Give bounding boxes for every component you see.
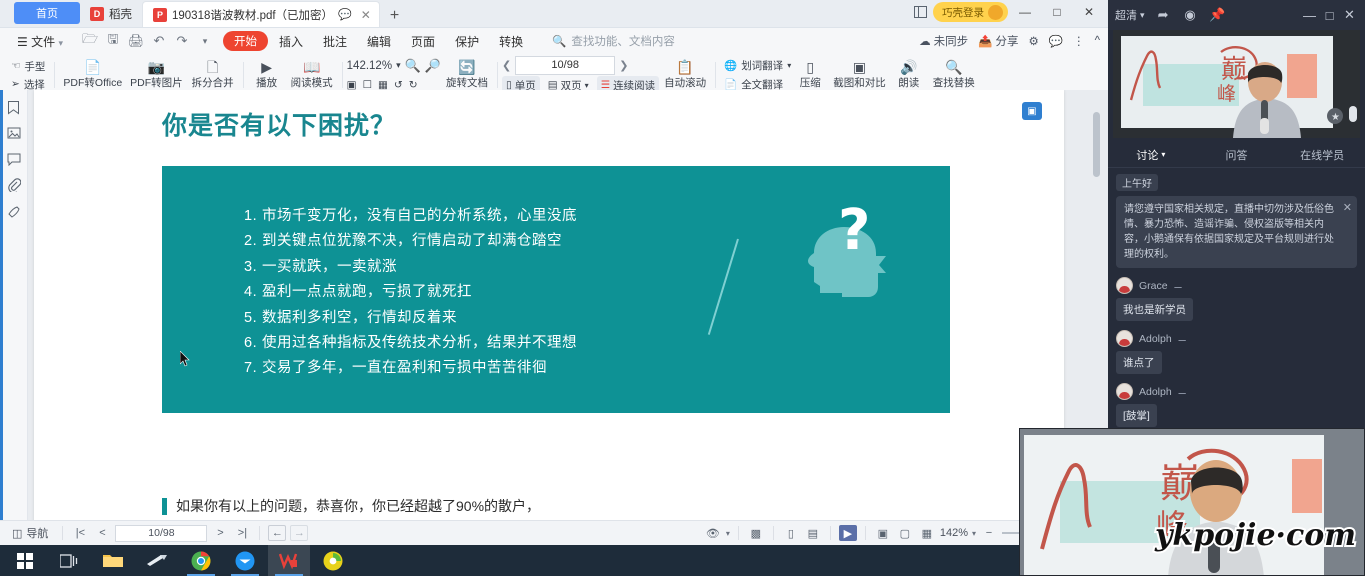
- decorative-slash: [708, 239, 739, 335]
- accent-bar: [162, 498, 167, 515]
- chat-message-header: Grace ⚊: [1116, 277, 1357, 294]
- find-replace-icon: 🔍: [945, 60, 962, 74]
- document-body: 你是否有以下困扰？ 1.市场千变万化，没有自己的分析系统，心里没底 2.到关键点…: [0, 90, 1108, 520]
- pdf-to-image-label: PDF转图片: [130, 75, 183, 90]
- pdf-to-office-icon: 📄: [84, 60, 101, 74]
- left-sidebar: [0, 90, 28, 520]
- chat-message: Adolph ⚊ [鼓掌]: [1116, 383, 1357, 427]
- zoom-chevron-down-icon[interactable]: ▾: [396, 60, 401, 71]
- tab-strip: 首页 D 稻壳 P 190318谐波教材.pdf（已加密） 💬 ✕ + 巧壳登录: [0, 0, 1108, 28]
- rotate-document-icon: 🔄: [458, 60, 475, 74]
- pdf-page: 你是否有以下困扰？ 1.市场千变万化，没有自己的分析系统，心里没底 2.到关键点…: [34, 90, 1064, 520]
- maximize-button[interactable]: □: [1042, 0, 1072, 25]
- cursor-icon: ➢: [11, 78, 20, 90]
- status-page-input[interactable]: 10/98: [115, 525, 207, 542]
- double-page-chevron-down-icon: ▾: [585, 81, 589, 90]
- chat-bubble: 我也是新学员: [1116, 298, 1193, 321]
- actual-size-view-icon[interactable]: ▣: [874, 525, 892, 541]
- feedback-icon[interactable]: 💬: [1049, 34, 1063, 48]
- tab-online-students-label: 在线学员: [1300, 147, 1344, 163]
- ribbon-tab-insert[interactable]: 插入: [270, 31, 312, 52]
- list-item: 2.到关键点位犹豫不决，行情启动了却满仓踏空: [244, 229, 577, 254]
- scrollbar-thumb[interactable]: [1093, 112, 1100, 177]
- attachment-icon[interactable]: [5, 176, 23, 194]
- toolbar-divider: [497, 62, 498, 88]
- split-merge-label: 拆分合并: [192, 75, 234, 90]
- image-icon[interactable]: [5, 124, 23, 142]
- list-item: 3.一买就跌，一卖就涨: [244, 255, 577, 280]
- qat-chevron-down-icon[interactable]: ▾: [195, 36, 215, 47]
- search-icon: 🔍: [552, 34, 566, 48]
- tab-document-label: 190318谐波教材.pdf（已加密）: [172, 7, 333, 23]
- webcam-overlay[interactable]: 巅 峰 ykpojie·com: [1019, 428, 1365, 576]
- fit-visible-view-icon[interactable]: ▦: [918, 525, 936, 541]
- find-replace-label: 查找替换: [933, 75, 975, 90]
- status-zoom-value[interactable]: 142%: [940, 527, 968, 539]
- reply-icon[interactable]: ⚊: [1178, 333, 1187, 344]
- toolbar-divider: [54, 62, 55, 88]
- page-thumbnail-badge[interactable]: ▣: [1022, 102, 1042, 120]
- pdf-to-image-icon: 📷: [148, 60, 165, 74]
- last-page-button[interactable]: >|: [233, 525, 251, 541]
- status-divider: [773, 526, 774, 540]
- question-head-illustration: ?: [782, 191, 912, 321]
- search-input[interactable]: 🔍 查找功能、文档内容: [552, 33, 675, 49]
- word-translate-label: 划词翻译: [741, 58, 783, 73]
- view-chevron-down-icon[interactable]: ▾: [726, 529, 730, 538]
- system-notice-text: 请您遵守国家相关规定，直播中切勿涉及低俗色情、暴力恐怖、造谣诈骗、侵权盗版等相关…: [1124, 204, 1334, 260]
- status-zoom-chevron-down-icon[interactable]: ▾: [972, 529, 976, 538]
- fit-page-icon[interactable]: ☐: [363, 79, 372, 91]
- status-divider: [865, 526, 866, 540]
- word-translate-button[interactable]: 🌐 划词翻译 ▾: [724, 57, 791, 74]
- double-page-view-icon[interactable]: ▤: [804, 525, 822, 541]
- chat-username: Adolph: [1139, 386, 1172, 398]
- menu-row: ☰ 文件 ▾ 🗁 🖫 🖨 ↶ ↷ ▾ 开始 插入 批注 编辑 页面 保护 转换 …: [0, 28, 1108, 54]
- navigation-label: 导航: [26, 525, 48, 541]
- avatar: [988, 5, 1003, 20]
- pdf-file-icon: P: [153, 8, 167, 22]
- view-eye-icon[interactable]: 👁: [704, 525, 722, 541]
- docer-icon: D: [90, 7, 104, 21]
- redo-icon[interactable]: ↷: [172, 33, 192, 49]
- live-maximize-button[interactable]: □: [1321, 7, 1338, 24]
- print-icon[interactable]: 🖨: [126, 33, 146, 49]
- chevron-down-icon: ▾: [1140, 10, 1145, 21]
- pdf-to-image-button[interactable]: 📷 PDF转图片: [126, 55, 187, 95]
- ribbon-tab-start[interactable]: 开始: [223, 31, 268, 51]
- chat-username: Grace: [1139, 280, 1168, 292]
- ribbon-tab-protect[interactable]: 保护: [446, 31, 488, 52]
- fit-page-view-icon[interactable]: ▢: [896, 525, 914, 541]
- ribbon-tab-convert[interactable]: 转换: [490, 31, 532, 52]
- navigation-toggle[interactable]: ◫ 导航: [6, 524, 54, 543]
- tab-docer-label: 稻壳: [109, 6, 132, 22]
- navigation-panel-icon: ◫: [12, 527, 22, 540]
- zoom-in-icon[interactable]: 🔎: [425, 58, 441, 74]
- tab-qa-label: 问答: [1226, 147, 1248, 163]
- close-button[interactable]: ✕: [1074, 0, 1104, 25]
- read-mode-button[interactable]: 📖 阅读模式: [286, 55, 338, 95]
- browser-icon[interactable]: [312, 545, 354, 576]
- auto-scroll-label: 自动滚动: [664, 75, 706, 90]
- chat-bubble: 谁点了: [1116, 351, 1162, 374]
- hand-icon: ☜: [11, 60, 20, 72]
- share-button[interactable]: 📤 分享: [978, 33, 1018, 49]
- search-placeholder: 查找功能、文档内容: [571, 33, 675, 49]
- live-minimize-button[interactable]: —: [1301, 7, 1318, 24]
- prev-page-icon[interactable]: ❮: [502, 59, 511, 72]
- stamp-icon[interactable]: [5, 202, 23, 220]
- panel-toggle-icon[interactable]: [909, 1, 931, 23]
- windows-taskbar: [0, 545, 1019, 576]
- screenshot-compare-label: 截图和对比: [833, 75, 886, 90]
- task-view-icon[interactable]: [48, 545, 90, 576]
- chat-message: Adolph ⚊ 谁点了: [1116, 330, 1357, 374]
- actual-size-icon[interactable]: ▣: [347, 79, 357, 91]
- tab-discussion[interactable]: 讨论 ▾: [1108, 147, 1194, 163]
- slideshow-play-button[interactable]: ▶: [839, 525, 857, 541]
- play-circle-icon: ▶: [261, 60, 272, 74]
- reply-icon[interactable]: ⚊: [1174, 280, 1183, 291]
- read-aloud-icon: 🔊: [900, 60, 917, 74]
- system-notice: 请您遵守国家相关规定，直播中切勿涉及低俗色情、暴力恐怖、造谣诈骗、侵权盗版等相关…: [1116, 196, 1357, 268]
- live-panel-titlebar: 超清 ▾ ➦ ◉ 📌 — □ ✕: [1108, 0, 1365, 30]
- file-menu[interactable]: ☰ 文件 ▾: [8, 31, 72, 52]
- rotate-right-icon[interactable]: ↻: [409, 79, 418, 91]
- read-aloud-label: 朗读: [898, 75, 919, 90]
- chevron-down-icon: ▾: [58, 38, 63, 48]
- collapse-ribbon-icon[interactable]: ^: [1095, 35, 1100, 47]
- system-greeting: 上午好: [1116, 174, 1158, 191]
- status-divider: [62, 526, 63, 540]
- minimize-button[interactable]: —: [1010, 0, 1040, 25]
- status-divider: [259, 526, 260, 540]
- quick-access-toolbar: 🗁 🖫 🖨 ↶ ↷ ▾: [80, 30, 215, 52]
- screenshot-compare-icon: ▣: [853, 60, 866, 74]
- file-explorer-icon[interactable]: [92, 545, 134, 576]
- list-item: 1.市场千变万化，没有自己的分析系统，心里没底: [244, 204, 577, 229]
- comment-icon[interactable]: [5, 150, 23, 168]
- status-divider: [738, 526, 739, 540]
- open-icon[interactable]: 🗁: [80, 30, 100, 52]
- first-page-button[interactable]: |<: [71, 525, 89, 541]
- file-menu-label: 文件: [31, 35, 55, 49]
- compress-icon: ▯: [806, 60, 814, 74]
- prev-page-button[interactable]: <: [93, 525, 111, 541]
- status-divider: [830, 526, 831, 540]
- next-page-button[interactable]: >: [211, 525, 229, 541]
- bookmark-icon[interactable]: [5, 98, 23, 116]
- sync-status[interactable]: ☁ 未同步: [919, 33, 968, 49]
- compress-button[interactable]: ▯ 压缩: [791, 55, 829, 95]
- app-icon[interactable]: [136, 545, 178, 576]
- svg-text:★: ★: [1331, 112, 1340, 123]
- new-tab-button[interactable]: +: [380, 8, 409, 24]
- tab-comment-icon[interactable]: 💬: [338, 8, 352, 21]
- login-label: 巧壳登录: [942, 5, 984, 20]
- login-button[interactable]: 巧壳登录: [933, 2, 1008, 22]
- list-item: 4.盈利一点点就跑，亏损了就死扛: [244, 280, 577, 305]
- play-label: 播放: [256, 75, 277, 90]
- page-navigation-group: ❮ 10/98 ❯ ▯ 单页 ▤ 双页 ▾ ☰: [502, 57, 659, 94]
- back-button[interactable]: ←: [268, 525, 286, 541]
- ribbon-tab-annotate[interactable]: 批注: [314, 31, 356, 52]
- live-window-controls: — □ ✕: [1301, 7, 1358, 24]
- quality-selector[interactable]: 超清 ▾: [1115, 7, 1145, 23]
- hamburger-icon: ☰: [17, 35, 28, 49]
- ribbon-tab-edit[interactable]: 编辑: [358, 31, 400, 52]
- hand-tool-label: 手型: [24, 59, 45, 74]
- compress-label: 压缩: [800, 75, 821, 90]
- footer-note: 如果你有以上的问题，恭喜你，你已经超越了90%的散户，: [162, 496, 540, 516]
- list-item: 5.数据利多利空，行情却反着来: [244, 306, 577, 331]
- settings-gear-icon[interactable]: ⚙: [1028, 34, 1038, 48]
- sync-label: 未同步: [934, 33, 969, 49]
- toolbar-divider: [243, 62, 244, 88]
- page-number-input[interactable]: 10/98: [515, 56, 615, 75]
- tab-qa[interactable]: 问答: [1194, 147, 1280, 163]
- notice-close-icon[interactable]: ✕: [1343, 201, 1352, 216]
- status-bar: ◫ 导航 |< < 10/98 > >| ← → 👁 ▾ ▩ ▯ ▤ ▶: [0, 520, 1108, 545]
- wps-pdf-window: 首页 D 稻壳 P 190318谐波教材.pdf（已加密） 💬 ✕ + 巧壳登录: [0, 0, 1108, 545]
- screen: 首页 D 稻壳 P 190318谐波教材.pdf（已加密） 💬 ✕ + 巧壳登录: [0, 0, 1365, 576]
- split-merge-button[interactable]: 🗋 拆分合并: [187, 55, 239, 95]
- read-mode-label: 阅读模式: [291, 75, 333, 90]
- undo-icon[interactable]: ↶: [149, 33, 169, 49]
- screenshot-compare-button[interactable]: ▣ 截图和对比: [829, 55, 890, 95]
- toolbar-divider: [342, 62, 343, 88]
- chevron-down-icon: ▾: [1161, 150, 1165, 159]
- fit-width-icon[interactable]: ▦: [378, 79, 388, 91]
- find-replace-button[interactable]: 🔍 查找替换: [928, 55, 980, 95]
- pdf-to-office-label: PDF转Office: [63, 75, 122, 90]
- save-icon[interactable]: 🖫: [103, 30, 123, 52]
- avatar: [1116, 330, 1133, 347]
- forward-button[interactable]: →: [290, 525, 308, 541]
- page-title: 你是否有以下困扰？: [162, 106, 396, 142]
- mail-icon[interactable]: [224, 545, 266, 576]
- single-page-view-icon[interactable]: ▯: [782, 525, 800, 541]
- play-button[interactable]: ▶ 播放: [248, 55, 286, 95]
- chat-message-header: Adolph ⚊: [1116, 383, 1357, 400]
- svg-text:巅: 巅: [1221, 55, 1247, 85]
- avatar: [1116, 383, 1133, 400]
- fit-width-view-icon[interactable]: ▩: [747, 525, 765, 541]
- read-aloud-button[interactable]: 🔊 朗读: [890, 55, 928, 95]
- auto-scroll-button[interactable]: 📋 自动滚动: [659, 55, 711, 95]
- mouse-cursor: [180, 351, 191, 371]
- svg-text:?: ?: [838, 198, 870, 263]
- tab-home[interactable]: 首页: [14, 2, 80, 24]
- start-icon[interactable]: [4, 545, 46, 576]
- pin-icon[interactable]: 📌: [1209, 7, 1226, 24]
- tab-discussion-label: 讨论: [1136, 147, 1158, 163]
- chat-message: Grace ⚊ 我也是新学员: [1116, 277, 1357, 321]
- menu-row-right: ☁ 未同步 📤 分享 ⚙ 💬 ⋮ ^: [919, 33, 1108, 49]
- window-controls: 巧壳登录 — □ ✕: [909, 0, 1108, 25]
- zoom-group: 142.12% ▾ 🔍 🔎 ▣ ☐ ▦ ↺ ↻: [347, 57, 441, 93]
- auto-scroll-icon: 📋: [676, 60, 693, 74]
- tab-home-label: 首页: [36, 5, 58, 21]
- list-item: 7.交易了多年，一直在盈利和亏损中苦苦徘徊: [244, 356, 577, 381]
- chat-message-header: Adolph ⚊: [1116, 330, 1357, 347]
- svg-text:峰: 峰: [1217, 83, 1236, 105]
- zoom-out-icon[interactable]: 🔍: [405, 58, 421, 74]
- ribbon-tab-page[interactable]: 页面: [402, 31, 444, 52]
- watermark: ykpojie·com: [1155, 518, 1356, 553]
- pain-point-list: 1.市场千变万化，没有自己的分析系统，心里没底 2.到关键点位犹豫不决，行情启动…: [244, 204, 577, 382]
- content-callout-box: 1.市场千变万化，没有自己的分析系统，心里没底 2.到关键点位犹豫不决，行情启动…: [162, 166, 950, 413]
- chrome-icon[interactable]: [180, 545, 222, 576]
- toolbar-divider: [715, 62, 716, 88]
- rotate-document-label: 旋转文档: [446, 75, 488, 90]
- document-scroll-area[interactable]: 你是否有以下困扰？ 1.市场千变万化，没有自己的分析系统，心里没底 2.到关键点…: [28, 90, 1108, 520]
- zoom-value[interactable]: 142.12%: [347, 60, 392, 72]
- footer-note-text: 如果你有以上的问题，恭喜你，你已经超越了90%的散户，: [176, 496, 540, 516]
- book-icon: 📖: [303, 60, 320, 74]
- hand-tool-button[interactable]: ☜ 手型: [11, 58, 45, 75]
- share-icon: 📤: [978, 34, 992, 48]
- word-translate-icon: 🌐: [724, 59, 737, 72]
- avatar: [1116, 277, 1133, 294]
- chat-username: Adolph: [1139, 333, 1172, 345]
- pdf-to-office-button[interactable]: 📄 PDF转Office: [59, 55, 126, 95]
- tab-online-students[interactable]: 在线学员: [1279, 147, 1365, 163]
- tab-document[interactable]: P 190318谐波教材.pdf（已加密） 💬 ✕: [142, 1, 380, 27]
- share-label: 分享: [995, 33, 1018, 49]
- chat-bubble: [鼓掌]: [1116, 404, 1157, 427]
- live-video-feed[interactable]: 巅 峰 ★: [1113, 30, 1360, 138]
- tab-docer[interactable]: D 稻壳: [80, 1, 142, 27]
- quality-label: 超清: [1115, 7, 1137, 23]
- more-options-icon[interactable]: ⋮: [1073, 34, 1085, 48]
- live-tabs: 讨论 ▾ 问答 在线学员: [1108, 142, 1365, 168]
- reply-icon[interactable]: ⚊: [1178, 386, 1187, 397]
- next-page-icon[interactable]: ❯: [619, 59, 628, 72]
- wps-icon[interactable]: [268, 545, 310, 576]
- rotate-left-icon[interactable]: ↺: [394, 79, 403, 91]
- split-merge-icon: 🗋: [207, 60, 218, 74]
- rotate-document-button[interactable]: 🔄 旋转文档: [441, 55, 493, 95]
- translate-group: 🌐 划词翻译 ▾ 📄 全文翻译: [724, 57, 791, 93]
- cloud-icon: ☁: [919, 34, 931, 48]
- tab-close-icon[interactable]: ✕: [357, 8, 375, 22]
- live-close-button[interactable]: ✕: [1341, 7, 1358, 24]
- share-icon[interactable]: ➦: [1155, 7, 1172, 24]
- list-item: 6.使用过各种指标及传统技术分析，结果并不理想: [244, 331, 577, 356]
- screenshot-icon[interactable]: ◉: [1182, 7, 1199, 24]
- zoom-minus-button[interactable]: −: [980, 525, 998, 541]
